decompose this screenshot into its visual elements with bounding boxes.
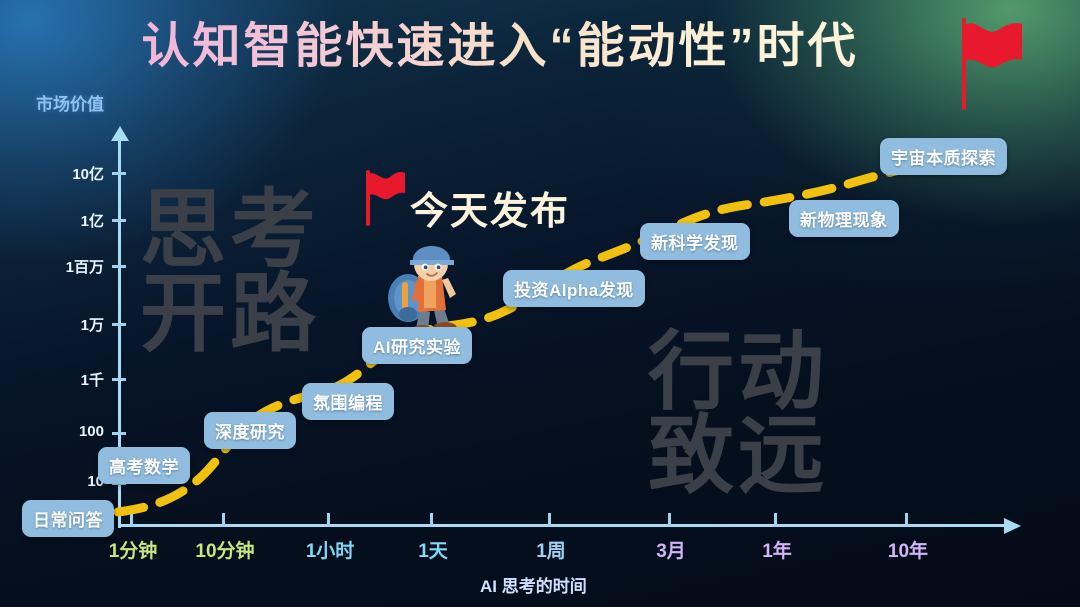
step-chip-2[interactable]: 深度研究 <box>204 412 296 449</box>
step-chip-8[interactable]: 宇宙本质探索 <box>880 138 1007 175</box>
hiker-character-icon <box>372 236 476 340</box>
slide-canvas: 认知智能快速进入“能动性”时代 思考 开路 行动 致远 市场价值 10亿1亿1百… <box>0 0 1080 607</box>
step-chip-3[interactable]: 氛围编程 <box>302 383 394 420</box>
step-chip-6[interactable]: 新科学发现 <box>640 223 750 260</box>
step-chip-5[interactable]: 投资Alpha发现 <box>503 270 645 307</box>
today-release-label: 今天发布 <box>410 180 570 235</box>
step-chip-7[interactable]: 新物理现象 <box>789 200 899 237</box>
step-chip-4[interactable]: AI研究实验 <box>362 327 472 364</box>
today-flag-icon <box>366 170 408 226</box>
step-chip-1[interactable]: 高考数学 <box>98 447 190 484</box>
step-chip-0[interactable]: 日常问答 <box>22 500 114 537</box>
